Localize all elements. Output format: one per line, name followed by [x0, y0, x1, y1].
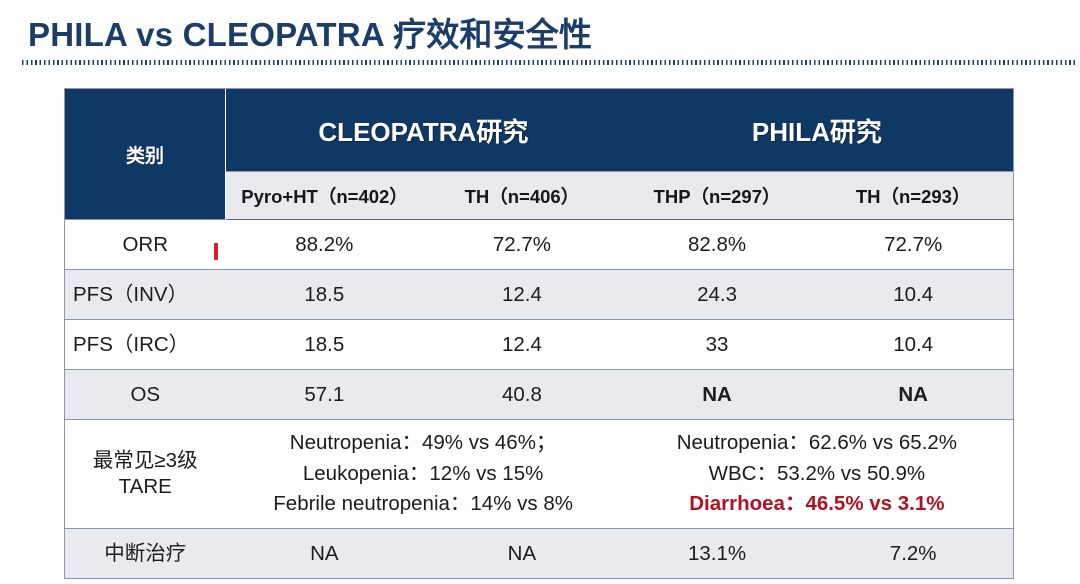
cell-os-pyroht: 57.1	[226, 370, 424, 420]
ae-line: Neutropenia：62.6% vs 65.2%	[621, 428, 1013, 459]
row-label-tare: 最常见≥3级 TARE	[65, 420, 226, 529]
row-label-discontinuation: 中断治疗	[65, 529, 226, 579]
annotation-mark-icon	[214, 243, 218, 260]
cell-pfsinv-pyroht: 18.5	[226, 270, 424, 320]
ae-line: Neutropenia：49% vs 46%；	[226, 428, 621, 459]
cell-pfsinv-thp: 24.3	[621, 270, 814, 320]
table-row: 中断治疗 NA NA 13.1% 7.2%	[65, 529, 1013, 579]
title-divider	[22, 60, 1075, 65]
row-label-pfs-inv: PFS（INV）	[65, 270, 226, 320]
cell-disc-thp: 13.1%	[621, 529, 814, 579]
comparison-table-container: 类别 CLEOPATRA研究 PHILA研究 Pyro+HT（n=402） TH…	[64, 88, 1014, 579]
cell-disc-th-cleo: NA	[423, 529, 621, 579]
subheader-th-phila: TH（n=293）	[813, 172, 1013, 220]
table-row: PFS（IRC） 18.5 12.4 33 10.4	[65, 320, 1013, 370]
row-label-orr: ORR	[65, 220, 226, 270]
header-group-phila: PHILA研究	[621, 89, 1013, 172]
table-header: 类别 CLEOPATRA研究 PHILA研究 Pyro+HT（n=402） TH…	[65, 89, 1013, 220]
table-row: 最常见≥3级 TARE Neutropenia：49% vs 46%； Leuk…	[65, 420, 1013, 529]
ae-line: Febrile neutropenia：14% vs 8%	[226, 489, 621, 520]
ae-line: Leukopenia：12% vs 15%	[226, 459, 621, 490]
cell-pfsinv-th-cleo: 12.4	[423, 270, 621, 320]
cell-pfsirc-th-phila: 10.4	[813, 320, 1013, 370]
cell-os-th-phila: NA	[813, 370, 1013, 420]
table-row: PFS（INV） 18.5 12.4 24.3 10.4	[65, 270, 1013, 320]
ae-line-highlighted: Diarrhoea：46.5% vs 3.1%	[621, 489, 1013, 520]
row-label-pfs-irc: PFS（IRC）	[65, 320, 226, 370]
comparison-table: 类别 CLEOPATRA研究 PHILA研究 Pyro+HT（n=402） TH…	[65, 89, 1013, 578]
row-label-tare-line1: 最常见≥3级	[65, 448, 226, 474]
page-title: PHILA vs CLEOPATRA 疗效和安全性	[28, 8, 592, 56]
cell-disc-th-phila: 7.2%	[813, 529, 1013, 579]
subheader-th-cleopatra: TH（n=406）	[423, 172, 621, 220]
cell-pfsirc-thp: 33	[621, 320, 814, 370]
cell-disc-pyroht: NA	[226, 529, 424, 579]
header-group-cleopatra: CLEOPATRA研究	[226, 89, 621, 172]
cell-tare-cleopatra: Neutropenia：49% vs 46%； Leukopenia：12% v…	[226, 420, 621, 529]
cell-pfsinv-th-phila: 10.4	[813, 270, 1013, 320]
table-body: ORR 88.2% 72.7% 82.8% 72.7% PFS（INV） 18.…	[65, 220, 1013, 579]
cell-orr-pyroht: 88.2%	[226, 220, 424, 270]
cell-orr-thp: 82.8%	[621, 220, 814, 270]
cell-pfsirc-th-cleo: 12.4	[423, 320, 621, 370]
row-label-tare-line2: TARE	[65, 474, 226, 500]
cell-orr-th-cleo: 72.7%	[423, 220, 621, 270]
cell-tare-phila: Neutropenia：62.6% vs 65.2% WBC：53.2% vs …	[621, 420, 1013, 529]
header-cell-category: 类别	[65, 89, 226, 220]
cell-os-thp: NA	[621, 370, 814, 420]
subheader-thp: THP（n=297）	[621, 172, 814, 220]
header-group-row: 类别 CLEOPATRA研究 PHILA研究	[65, 89, 1013, 172]
cell-pfsirc-pyroht: 18.5	[226, 320, 424, 370]
cell-os-th-cleo: 40.8	[423, 370, 621, 420]
slide-root: PHILA vs CLEOPATRA 疗效和安全性 类别 CLEOPATRA研究…	[0, 0, 1080, 584]
row-label-os: OS	[65, 370, 226, 420]
table-row: ORR 88.2% 72.7% 82.8% 72.7%	[65, 220, 1013, 270]
table-row: OS 57.1 40.8 NA NA	[65, 370, 1013, 420]
cell-orr-th-phila: 72.7%	[813, 220, 1013, 270]
subheader-pyro-ht: Pyro+HT（n=402）	[226, 172, 424, 220]
ae-line: WBC：53.2% vs 50.9%	[621, 459, 1013, 490]
